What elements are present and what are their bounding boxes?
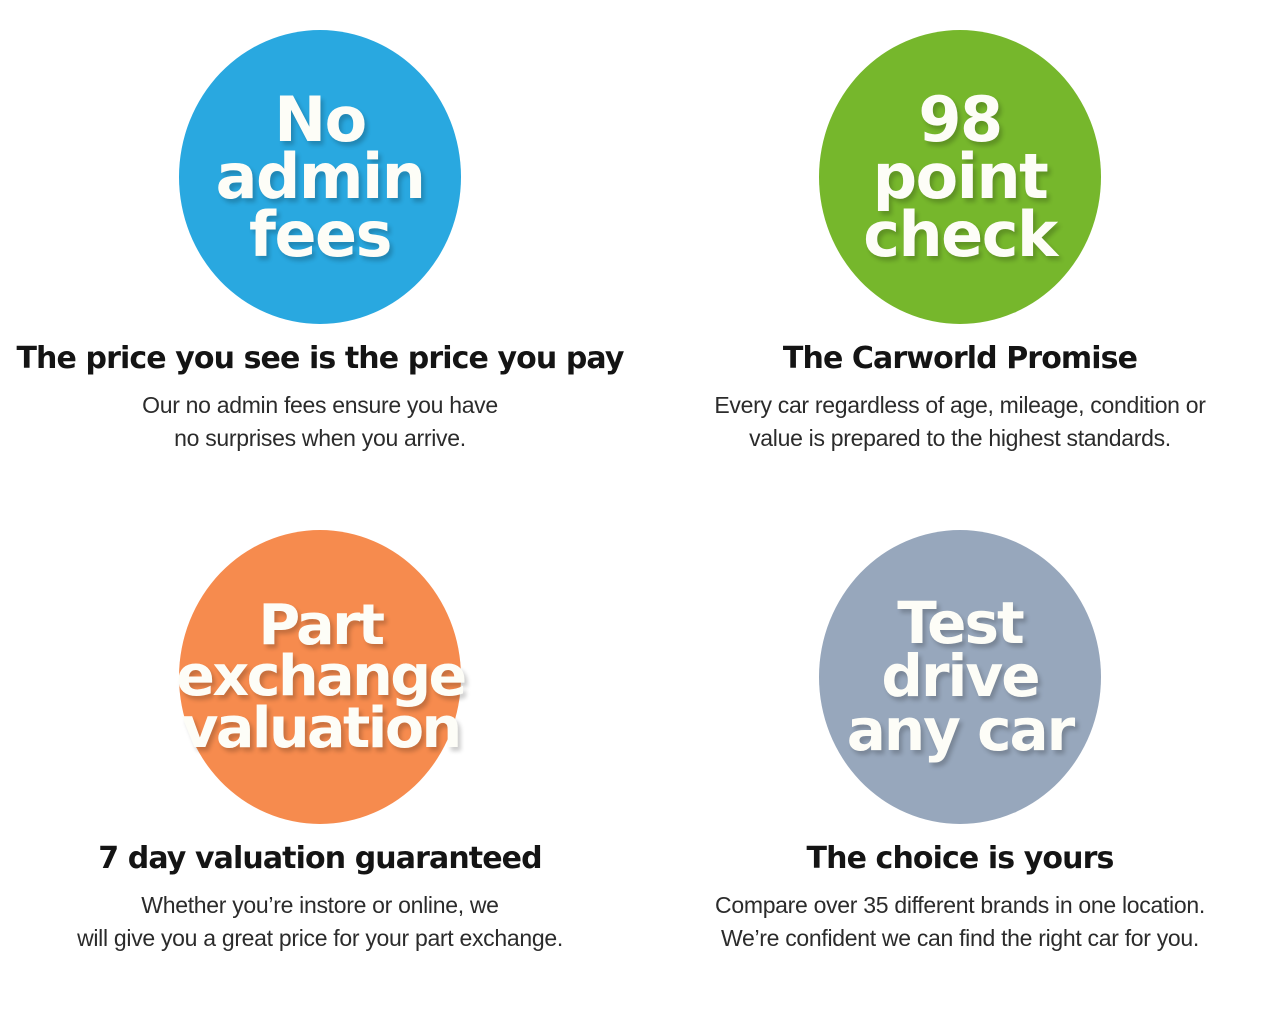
usp-body: Our no admin fees ensure you have no sur… <box>142 389 498 454</box>
usp-body-line-2: value is prepared to the highest standar… <box>714 422 1205 455</box>
usp-card-test-drive-any-car: Test drive any car The choice is yours C… <box>640 512 1280 1024</box>
test-drive-any-car-badge: Test drive any car <box>819 530 1101 824</box>
usp-body-line-1: Every car regardless of age, mileage, co… <box>714 389 1205 422</box>
badge-line-3: check <box>863 206 1056 263</box>
usp-heading: The price you see is the price you pay <box>16 342 623 375</box>
badge-line-3: any car <box>847 704 1074 757</box>
badge-line-2: point <box>863 148 1056 205</box>
usp-body-line-1: Whether you’re instore or online, we <box>77 889 563 922</box>
usp-body-line-2: no surprises when you arrive. <box>142 422 498 455</box>
usp-card-no-admin-fees: No admin fees The price you see is the p… <box>0 0 640 512</box>
98-point-check-badge: 98 point check <box>819 30 1101 324</box>
badge-text: 98 point check <box>863 91 1056 262</box>
usp-body-line-2: We’re confident we can find the right ca… <box>715 922 1205 955</box>
usp-card-part-exchange-valuation: Part exchange valuation 7 day valuation … <box>0 512 640 1024</box>
usp-heading: The choice is yours <box>807 842 1114 875</box>
usp-body: Compare over 35 different brands in one … <box>715 889 1205 954</box>
part-exchange-valuation-badge: Part exchange valuation <box>179 530 461 824</box>
usp-body: Every car regardless of age, mileage, co… <box>714 389 1205 454</box>
usp-card-98-point-check: 98 point check The Carworld Promise Ever… <box>640 0 1280 512</box>
badge-line-2: admin <box>216 148 425 205</box>
usp-body-line-1: Our no admin fees ensure you have <box>142 389 498 422</box>
badge-line-3: fees <box>216 206 425 263</box>
usp-heading: The Carworld Promise <box>783 342 1137 375</box>
usp-body: Whether you’re instore or online, we wil… <box>77 889 563 954</box>
usp-body-line-2: will give you a great price for your par… <box>77 922 563 955</box>
badge-text: No admin fees <box>216 91 425 262</box>
no-admin-fees-badge: No admin fees <box>179 30 461 324</box>
badge-text: Test drive any car <box>847 597 1074 757</box>
usp-grid: No admin fees The price you see is the p… <box>0 0 1280 1024</box>
usp-body-line-1: Compare over 35 different brands in one … <box>715 889 1205 922</box>
badge-text: Part exchange valuation <box>179 600 462 755</box>
usp-heading: 7 day valuation guaranteed <box>98 842 541 875</box>
badge-line-3: valuation <box>176 703 465 755</box>
